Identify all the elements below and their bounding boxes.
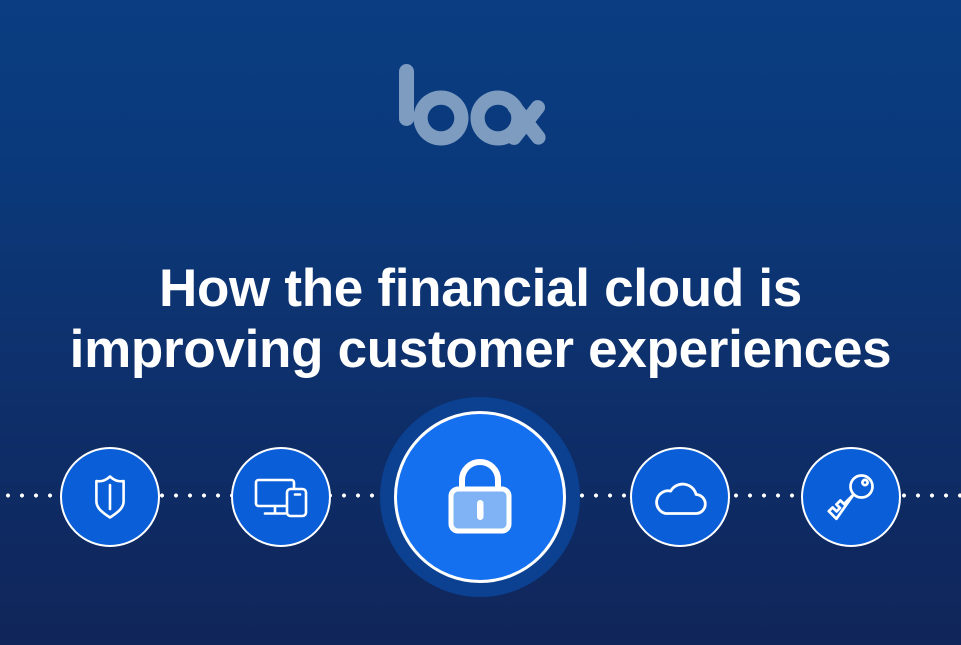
icon-circle xyxy=(231,447,331,547)
icon-node-lock[interactable] xyxy=(380,397,580,597)
icon-circle xyxy=(60,447,160,547)
icon-node-cloud[interactable] xyxy=(630,447,730,547)
icon-circle xyxy=(630,447,730,547)
icon-circle xyxy=(801,447,901,547)
icon-row xyxy=(0,0,961,645)
key-icon xyxy=(822,468,880,526)
lock-icon xyxy=(427,444,533,550)
icon-node-devices[interactable] xyxy=(231,447,331,547)
presentation-slide: How the financial cloud is improving cus… xyxy=(0,0,961,645)
icon-glow-ring xyxy=(380,397,580,597)
icon-node-key[interactable] xyxy=(801,447,901,547)
shield-icon xyxy=(82,469,138,525)
icon-circle xyxy=(394,411,566,583)
devices-icon xyxy=(251,469,311,525)
icon-node-shield[interactable] xyxy=(60,447,160,547)
cloud-icon xyxy=(649,472,711,522)
